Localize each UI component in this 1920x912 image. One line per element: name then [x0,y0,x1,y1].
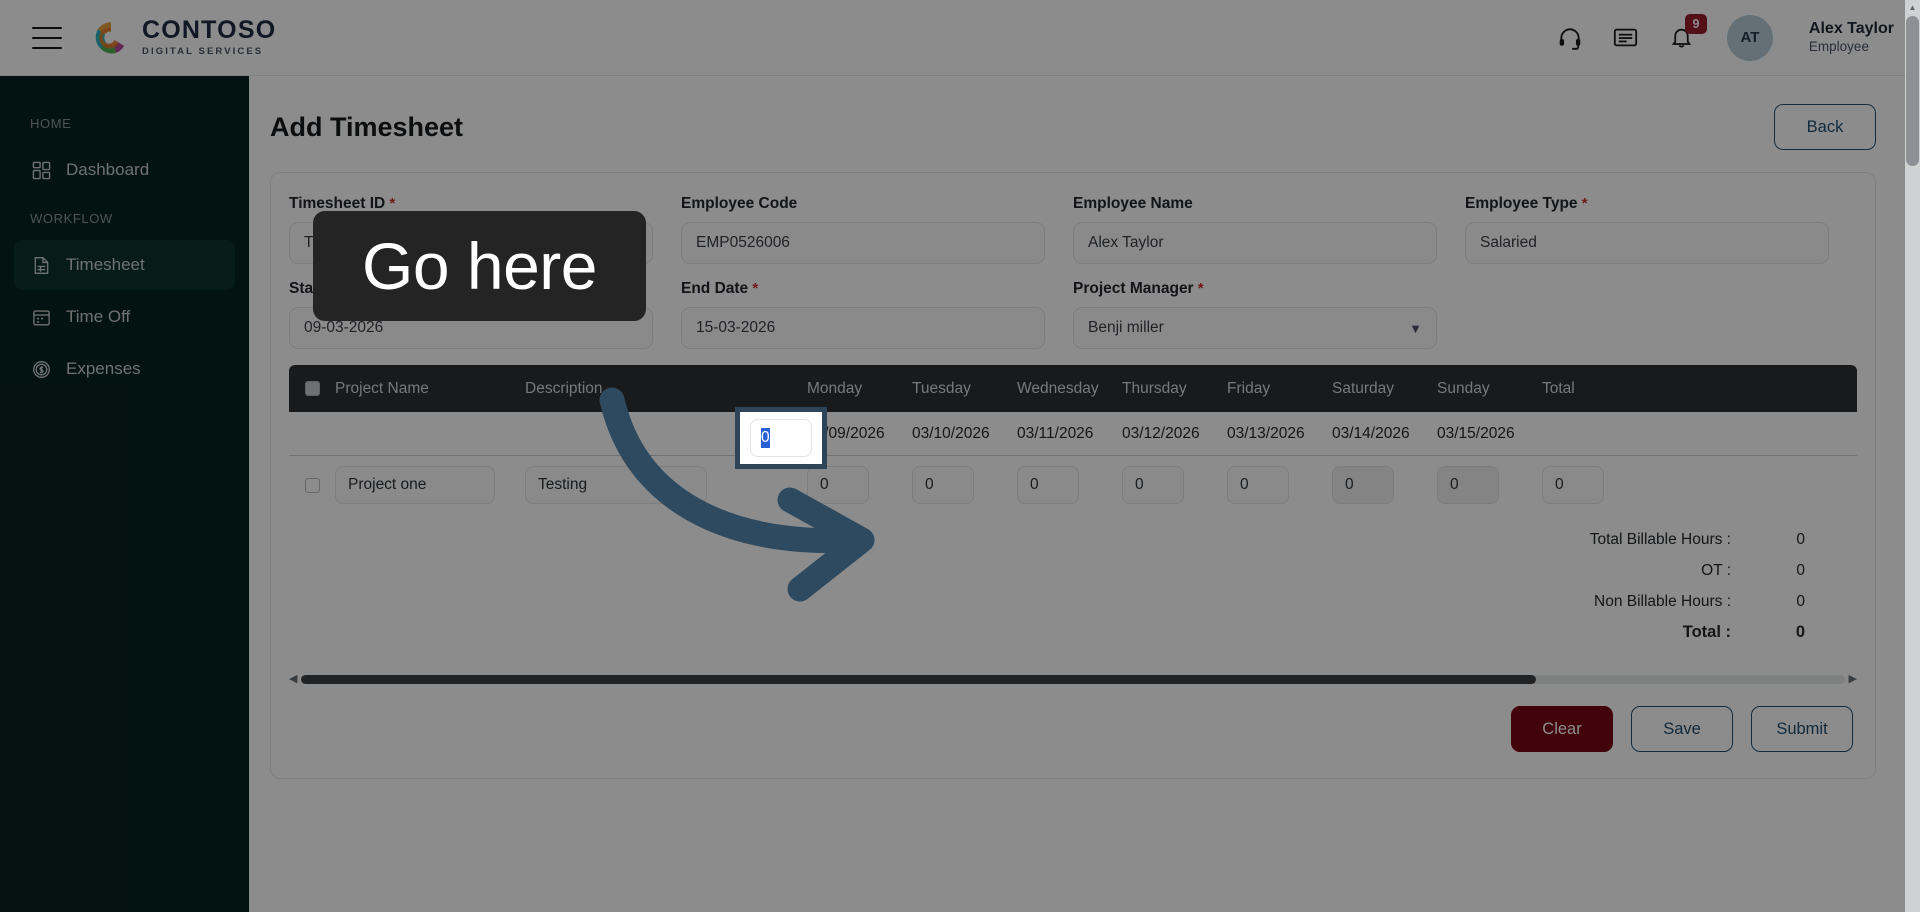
table-row: Project one Testing 0 0 0 0 [289,456,1857,514]
sidebar-item-label: Time Off [66,307,130,327]
sidebar-item-time-off[interactable]: Time Off [14,292,235,342]
field-start-date: Start Date * 09-03-2026 [289,280,681,349]
row-select-cell[interactable] [289,478,335,493]
project-manager-select[interactable]: Benji miller ▼ [1073,307,1437,349]
field-timesheet-id: Timesheet ID * TS0526003 [289,195,681,264]
required-marker: * [362,280,372,297]
date-wednesday: 03/11/2026 [1017,425,1122,443]
field-label: Start Date * [289,280,653,298]
calendar-icon [30,306,52,328]
field-employee-name: Employee Name Alex Taylor [1073,195,1465,264]
summary-row-non-billable: Non Billable Hours : 0 [289,586,1805,617]
dollar-coin-icon [30,358,52,380]
summary-label: Total Billable Hours : [1590,531,1731,549]
chevron-down-icon: ▼ [1409,321,1422,336]
description-input[interactable]: Testing [525,466,707,504]
summary-row-billable: Total Billable Hours : 0 [289,524,1805,555]
field-label: Employee Name [1073,195,1437,213]
project-name-input[interactable]: Project one [335,466,495,504]
sidebar-group-home: HOME [0,102,249,143]
employee-type-input[interactable]: Salaried [1465,222,1829,264]
submit-button[interactable]: Submit [1751,706,1853,752]
user-info[interactable]: Alex Taylor Employee [1809,19,1894,56]
col-thursday: Thursday [1122,380,1227,398]
sidebar-item-label: Expenses [66,359,141,379]
summary-value: 0 [1731,623,1805,642]
required-marker: * [385,195,395,212]
sidebar-item-label: Dashboard [66,160,149,180]
scroll-right-icon[interactable]: ▶ [1845,674,1857,685]
table-horizontal-scrollbar[interactable]: ◀ ▶ [289,672,1857,686]
date-thursday: 03/12/2026 [1122,425,1227,443]
label-text: Start Date [289,280,362,297]
scroll-up-icon[interactable]: ▲ [1905,0,1920,15]
sidebar-item-timesheet[interactable]: Timesheet [14,240,235,290]
field-label: Project Manager * [1073,280,1437,298]
col-saturday: Saturday [1332,380,1437,398]
brand-tagline: DIGITAL SERVICES [142,47,276,57]
label-text: End Date [681,280,748,297]
end-date-input[interactable]: 15-03-2026 [681,307,1045,349]
col-sunday: Sunday [1437,380,1542,398]
app-root: CONTOSO DIGITAL SERVICES [0,0,1920,912]
hours-friday-input[interactable]: 0 [1227,466,1289,504]
table-dates-row: 03/09/2026 03/10/2026 03/11/2026 03/12/2… [289,412,1857,456]
headset-icon[interactable] [1555,23,1585,53]
col-tuesday: Tuesday [912,380,1017,398]
page-scrollbar[interactable]: ▲ [1905,0,1920,912]
sidebar-item-dashboard[interactable]: Dashboard [14,145,235,195]
required-marker: * [1578,195,1588,212]
summary-row-total: Total : 0 [289,617,1805,648]
page-scroll-thumb[interactable] [1906,16,1919,166]
scroll-track[interactable] [301,675,1845,684]
summary-value: 0 [1731,531,1805,549]
col-project-name: Project Name [335,380,525,398]
col-total: Total [1542,380,1622,398]
col-friday: Friday [1227,380,1332,398]
page-header: Add Timesheet Back [249,76,1920,150]
sidebar: HOME Dashboard WORKFLOW [0,76,249,912]
timesheet-card: Timesheet ID * TS0526003 Employee Code E… [270,172,1876,779]
hours-monday-input[interactable]: 0 [807,466,869,504]
field-label: Employee Type * [1465,195,1829,213]
field-spacer [1465,280,1857,349]
col-monday: Monday [807,380,912,398]
label-text: Employee Type [1465,195,1578,212]
select-all-cell[interactable] [289,381,335,396]
hours-saturday-input[interactable]: 0 [1332,466,1394,504]
save-button[interactable]: Save [1631,706,1733,752]
form-row-1: Timesheet ID * TS0526003 Employee Code E… [289,195,1857,264]
col-description: Description [525,380,807,398]
bell-icon[interactable]: 9 [1667,23,1697,53]
field-end-date: End Date * 15-03-2026 [681,280,1073,349]
row-total-value: 0 [1542,466,1604,504]
hours-wednesday-input[interactable]: 0 [1017,466,1079,504]
document-list-icon[interactable] [1611,23,1641,53]
summary-block: Total Billable Hours : 0 OT : 0 Non Bill… [289,524,1857,648]
date-tuesday: 03/10/2026 [912,425,1017,443]
label-text: Timesheet ID [289,195,385,212]
date-saturday: 03/14/2026 [1332,425,1437,443]
date-monday: 03/09/2026 [807,425,912,443]
select-all-checkbox[interactable] [305,381,320,396]
hours-thursday-input[interactable]: 0 [1122,466,1184,504]
clear-button[interactable]: Clear [1511,706,1613,752]
required-marker: * [1194,280,1204,297]
form-actions: Clear Save Submit [289,706,1857,752]
user-role: Employee [1809,39,1894,56]
user-name: Alex Taylor [1809,19,1894,39]
employee-code-input[interactable]: EMP0526006 [681,222,1045,264]
scroll-left-icon[interactable]: ◀ [289,674,301,685]
summary-value: 0 [1731,562,1805,580]
field-employee-code: Employee Code EMP0526006 [681,195,1073,264]
summary-value: 0 [1731,593,1805,611]
field-label: Timesheet ID * [289,195,653,213]
table-header-row: Project Name Description Monday Tuesday … [289,365,1857,412]
summary-label: OT : [1701,562,1731,580]
field-employee-type: Employee Type * Salaried [1465,195,1857,264]
form-row-2: Start Date * 09-03-2026 End Date * 15-03… [289,280,1857,349]
field-project-manager: Project Manager * Benji miller ▼ [1073,280,1465,349]
field-label: Employee Code [681,195,1045,213]
sidebar-group-workflow: WORKFLOW [0,197,249,238]
employee-name-input[interactable]: Alex Taylor [1073,222,1437,264]
required-marker: * [748,280,758,297]
start-date-input[interactable]: 09-03-2026 [289,307,653,349]
selected-value: Benji miller [1088,319,1164,337]
date-friday: 03/13/2026 [1227,425,1332,443]
back-button[interactable]: Back [1774,104,1876,150]
row-checkbox[interactable] [305,478,320,493]
col-wednesday: Wednesday [1017,380,1122,398]
avatar[interactable]: AT [1727,15,1773,61]
scroll-thumb[interactable] [301,675,1536,684]
hours-tuesday-input[interactable]: 0 [912,466,974,504]
field-label: End Date * [681,280,1045,298]
sidebar-item-expenses[interactable]: Expenses [14,344,235,394]
main-content: Add Timesheet Back Timesheet ID * TS0526… [249,76,1920,912]
date-sunday: 03/15/2026 [1437,425,1542,443]
contoso-swirl-icon [90,17,132,59]
timesheet-table: Project Name Description Monday Tuesday … [289,365,1857,752]
page-title: Add Timesheet [270,112,463,143]
hours-sunday-input[interactable]: 0 [1437,466,1499,504]
brand-logo[interactable]: CONTOSO DIGITAL SERVICES [90,17,276,59]
label-text: Project Manager [1073,280,1194,297]
file-grid-icon [30,254,52,276]
brand-name: CONTOSO [142,18,276,43]
top-header: CONTOSO DIGITAL SERVICES [0,0,1920,76]
notification-badge: 9 [1685,14,1707,34]
summary-row-ot: OT : 0 [289,555,1805,586]
header-actions: 9 AT Alex Taylor Employee [1555,15,1894,61]
timesheet-id-input[interactable]: TS0526003 [289,222,653,264]
grid-icon [30,159,52,181]
sidebar-item-label: Timesheet [66,255,145,275]
hamburger-icon[interactable] [32,27,62,49]
summary-label: Non Billable Hours : [1594,593,1731,611]
summary-label: Total : [1683,623,1731,642]
